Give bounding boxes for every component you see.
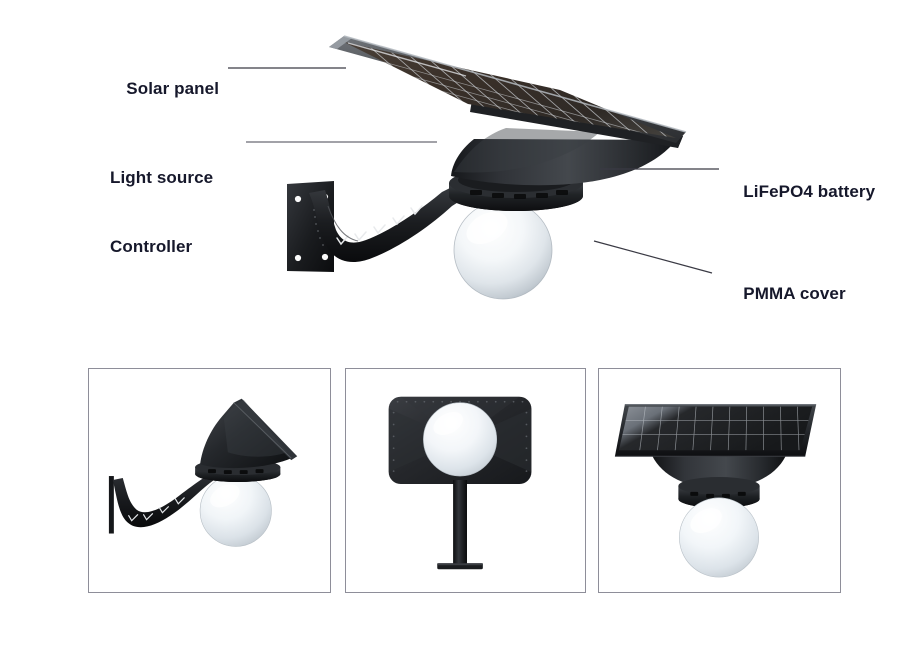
- front-view-illustration: [346, 369, 585, 592]
- callout-label-light-source: Light source: [110, 166, 213, 189]
- battery-collar: [449, 168, 583, 211]
- callout-lifepo4-battery: LiFePO4 battery: [724, 157, 875, 226]
- thumbnail-side-view[interactable]: [88, 368, 331, 593]
- leader-line-pmma-cover: [594, 241, 712, 273]
- callout-solar-panel: Solar panel: [107, 54, 219, 123]
- bracket-arm: [309, 183, 468, 262]
- thumbnail-solar-panel-view[interactable]: [598, 368, 841, 593]
- solar-panel: [329, 36, 746, 206]
- solar-panel-view-illustration: [599, 369, 840, 592]
- callout-label-lifepo4-battery: LiFePO4 battery: [743, 182, 875, 201]
- side-view-illustration: [89, 369, 330, 592]
- diagram-canvas: Solar panel Light source Controller LiFe…: [0, 0, 922, 664]
- thumbnail-front-view[interactable]: [345, 368, 586, 593]
- callout-label-pmma-cover: PMMA cover: [743, 284, 845, 303]
- callout-pmma-cover: PMMA cover: [724, 259, 846, 328]
- callout-label-controller: Controller: [110, 235, 213, 258]
- callout-light-source-controller: Light source Controller: [110, 120, 213, 304]
- wall-mount-plate: [287, 181, 334, 272]
- light-body-housing: [451, 128, 676, 185]
- callout-label-solar-panel: Solar panel: [126, 79, 219, 98]
- pmma-globe-cover: [454, 201, 552, 299]
